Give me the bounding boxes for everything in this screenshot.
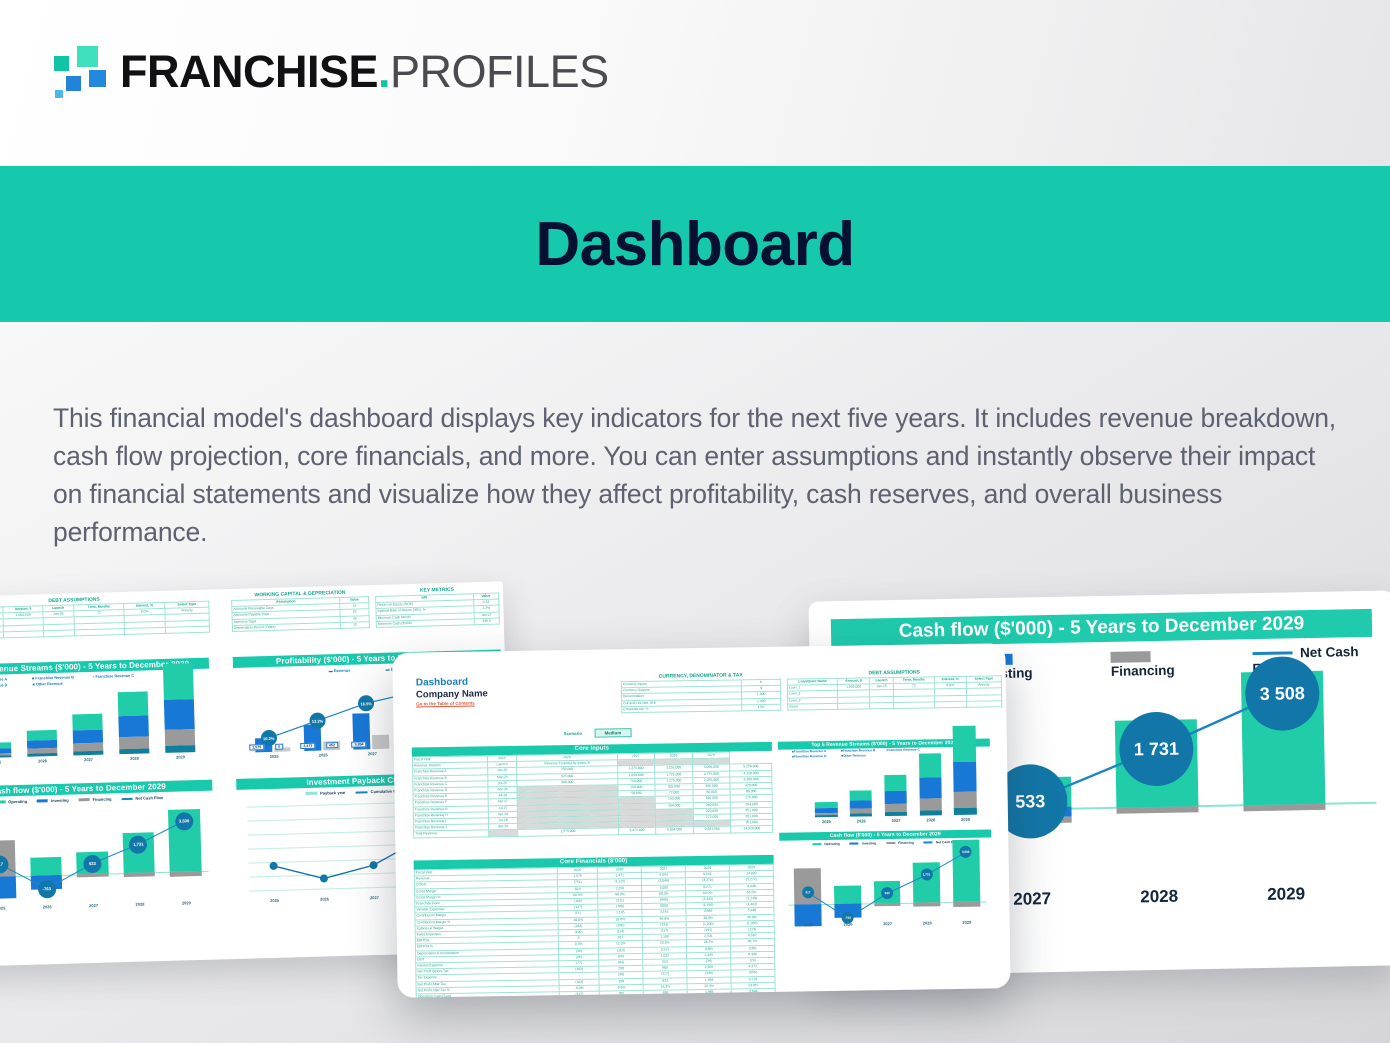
bar-segment <box>884 791 906 804</box>
bar-segment <box>850 790 872 800</box>
core-inputs-block: Core Inputs Fiscal Year20252026202720282… <box>412 742 773 838</box>
legend-item: Financing <box>886 839 914 847</box>
logo-word-franchise: FRANCHISE <box>120 46 378 97</box>
data-bubble: 533 <box>83 854 101 872</box>
x-tick: 2029 <box>157 754 203 760</box>
bar-segment <box>884 775 907 791</box>
legend-item-financing[interactable]: Financing <box>1111 647 1207 679</box>
page-banner: Dashboard <box>0 166 1390 322</box>
legend-item: ■ Franchise Revenue B <box>32 675 74 680</box>
bar-segment <box>919 777 942 798</box>
bar-segment <box>885 812 907 816</box>
bar-segment <box>119 715 149 737</box>
front-dashboard-card[interactable]: Dashboard Company Name Go to the Table o… <box>392 643 1010 998</box>
table-cell: Corporate tax, % <box>622 705 742 713</box>
legend-item: ▪ Franchise Revenue C <box>93 674 134 679</box>
x-tick: 2028 <box>913 817 948 823</box>
left-cashflow-chart: Cash flow ($'000) - 5 Years to December … <box>0 780 216 927</box>
table-cell <box>74 628 125 636</box>
bar-segment <box>118 691 148 716</box>
x-tick-2029: 2029 <box>1245 884 1327 906</box>
bar-segment <box>165 729 195 746</box>
value-box: 5,854 <box>351 741 366 747</box>
front-card-header: Dashboard Company Name Go to the Table o… <box>416 676 488 707</box>
legend-item: ▬ Revenue <box>329 668 351 674</box>
legend-item: Investing <box>850 839 877 847</box>
legend-item: ■ Franchise Revenue A <box>0 677 7 682</box>
logo-word-profiles: PROFILES <box>390 46 609 97</box>
brand-logo: FRANCHISE.PROFILES <box>52 42 609 100</box>
table-cell: Total Revenue <box>414 830 489 837</box>
bar-segment <box>954 808 976 815</box>
table-cell: 154 <box>600 997 644 998</box>
logo-square-blue <box>87 68 108 89</box>
table-cell: 5,054,000 <box>656 827 694 834</box>
front-card-company: Company Name <box>416 688 488 700</box>
description-paragraph: This financial model's dashboard display… <box>53 399 1343 551</box>
table-cell: 9,641,000 <box>693 826 731 833</box>
bar-segment <box>850 813 872 816</box>
table-cell <box>488 830 517 837</box>
bar-segment <box>815 815 837 817</box>
table-cell: 3,471,000 <box>618 828 656 835</box>
table-cell: 686 <box>644 996 688 998</box>
bar-segment <box>954 792 977 808</box>
core-financials-table: Fiscal Year20252026202720282029Revenue1,… <box>414 864 776 998</box>
debt-table: Loan/Grant NameAmount, $LaunchTerm, Mont… <box>787 675 1002 710</box>
legend-item: Operating <box>812 840 840 848</box>
front-cashflow-chart: Cash flow ($'000) - 5 Years to December … <box>779 829 991 848</box>
bar-segment <box>919 798 941 810</box>
legend-item: ▪Franchise Revenue C <box>886 748 920 753</box>
x-tick: 2025 <box>0 759 20 765</box>
bar-segment <box>165 745 195 753</box>
table-cell: (112) <box>559 991 599 998</box>
page-title: Dashboard <box>535 209 854 280</box>
bar-segment <box>920 810 942 815</box>
value-box: 3,473 <box>300 743 315 749</box>
data-bubble: 3,508 <box>175 812 193 830</box>
page-header: FRANCHISE.PROFILES <box>0 0 1390 166</box>
legend-item: ■ Franchise Revenue D <box>0 683 7 688</box>
logo-wordmark: FRANCHISE.PROFILES <box>120 49 609 94</box>
bar-segment <box>74 751 104 756</box>
table-cell <box>894 702 934 709</box>
scenario-value[interactable]: Medium <box>595 728 632 738</box>
table-cell: 1,986 <box>687 989 731 996</box>
value-box: 4 <box>275 744 283 750</box>
table-cell: 10 <box>340 621 369 628</box>
table-cell <box>870 702 894 709</box>
bar-segment <box>0 755 11 758</box>
table-cell: 5,925 <box>731 995 775 998</box>
bar-segment <box>28 753 58 757</box>
value-box: 1,575 <box>249 744 264 750</box>
table-cell <box>44 630 75 637</box>
bar-segment <box>953 726 976 762</box>
table-cell <box>125 627 166 634</box>
table-cell <box>967 701 1002 708</box>
core-financials-block: Core Financials ($'000) Fiscal Year20252… <box>414 855 776 998</box>
table-cell: 2,917 <box>687 995 731 997</box>
logo-square-lightblue <box>53 88 65 100</box>
logo-square-mint <box>75 44 100 69</box>
front-revenue-chart: Top 5 Revenue Streams ($'000) - 5 Years … <box>778 738 990 759</box>
left-wc-table: AssumptionValueAccounts Receivable Days1… <box>231 596 370 632</box>
table-cell <box>166 626 210 633</box>
logo-square-teal <box>52 54 71 73</box>
x-tick-2028: 2028 <box>1118 886 1200 908</box>
logo-square-blue-small <box>64 74 83 93</box>
table-cell: 336.5 <box>474 618 500 625</box>
table-cell <box>4 631 44 638</box>
currency-table: Currency Inputs$Currency Outputs$Denomin… <box>621 679 781 714</box>
value-box: 452 <box>326 742 338 748</box>
front-card-toc-link[interactable]: Go to the Table of Contents <box>416 699 488 707</box>
left-km-table: KPIValueReturn on Equity (ROE)0.33Intern… <box>375 593 500 628</box>
table-cell: 3,694 <box>731 988 775 995</box>
bar-segment <box>73 714 103 731</box>
logo-dot: . <box>378 46 390 97</box>
bar-segment <box>120 748 150 754</box>
debt-table-block: DEBT ASSUMPTIONS Loan/Grant NameAmount, … <box>787 668 1003 710</box>
logo-squares-icon <box>52 42 110 100</box>
table-cell: 14,920,000 <box>731 826 773 833</box>
core-inputs-table: Fiscal Year20252026202720282029Revenue s… <box>412 751 773 838</box>
bar-segment <box>954 762 977 792</box>
bar-segment <box>919 753 942 777</box>
left-revenue-chart: Top 5 Revenue Streams ($'000) - 5 Years … <box>0 658 212 780</box>
table-cell: 930 <box>643 990 687 997</box>
x-tick: 2026 <box>19 758 65 764</box>
legend-item: ■ Other Revenue <box>32 682 62 687</box>
cash-flow-chart-title: Cash flow ($'000) - 5 Years to December … <box>831 609 1372 647</box>
x-tick: 2029 <box>948 817 983 823</box>
legend-item: ■Franchise Revenue A <box>792 749 826 754</box>
table-cell <box>838 703 870 710</box>
table-cell: Grant <box>788 703 839 710</box>
legend-item: ■Franchise Revenue B <box>841 748 875 753</box>
table-cell <box>934 701 967 708</box>
currency-table-block: CURRENCY, DENOMINATOR & TAX Currency Inp… <box>621 672 782 714</box>
table-cell: 15% <box>742 704 781 711</box>
bar-segment <box>163 663 193 700</box>
left-debt-table: Loan/Grant NameAmount, $LaunchTerm, Mont… <box>0 601 210 641</box>
legend-item: ■Other Revenue <box>841 753 866 757</box>
data-bubble: -763 <box>37 880 55 898</box>
bar-segment <box>164 699 194 730</box>
x-tick: 2026 <box>844 818 879 824</box>
x-tick: 2027 <box>65 756 111 762</box>
x-tick: 2027 <box>879 818 914 824</box>
x-tick: 2028 <box>111 755 157 761</box>
scenario-label: Scenario <box>564 731 583 736</box>
screenshot-stage: & TAX $ $ 1,000 1,000 15% DEBT ASSUMPTIO… <box>0 560 1390 1043</box>
bar-segment <box>73 730 103 744</box>
table-cell: 301 <box>600 990 644 997</box>
table-cell: 1,575,000 <box>518 828 618 836</box>
bar-segment <box>119 736 149 749</box>
x-tick: 2025 <box>809 819 844 825</box>
legend-item: ■Franchise Revenue D <box>792 754 826 759</box>
scenario-selector[interactable]: Scenario Medium <box>563 721 631 740</box>
